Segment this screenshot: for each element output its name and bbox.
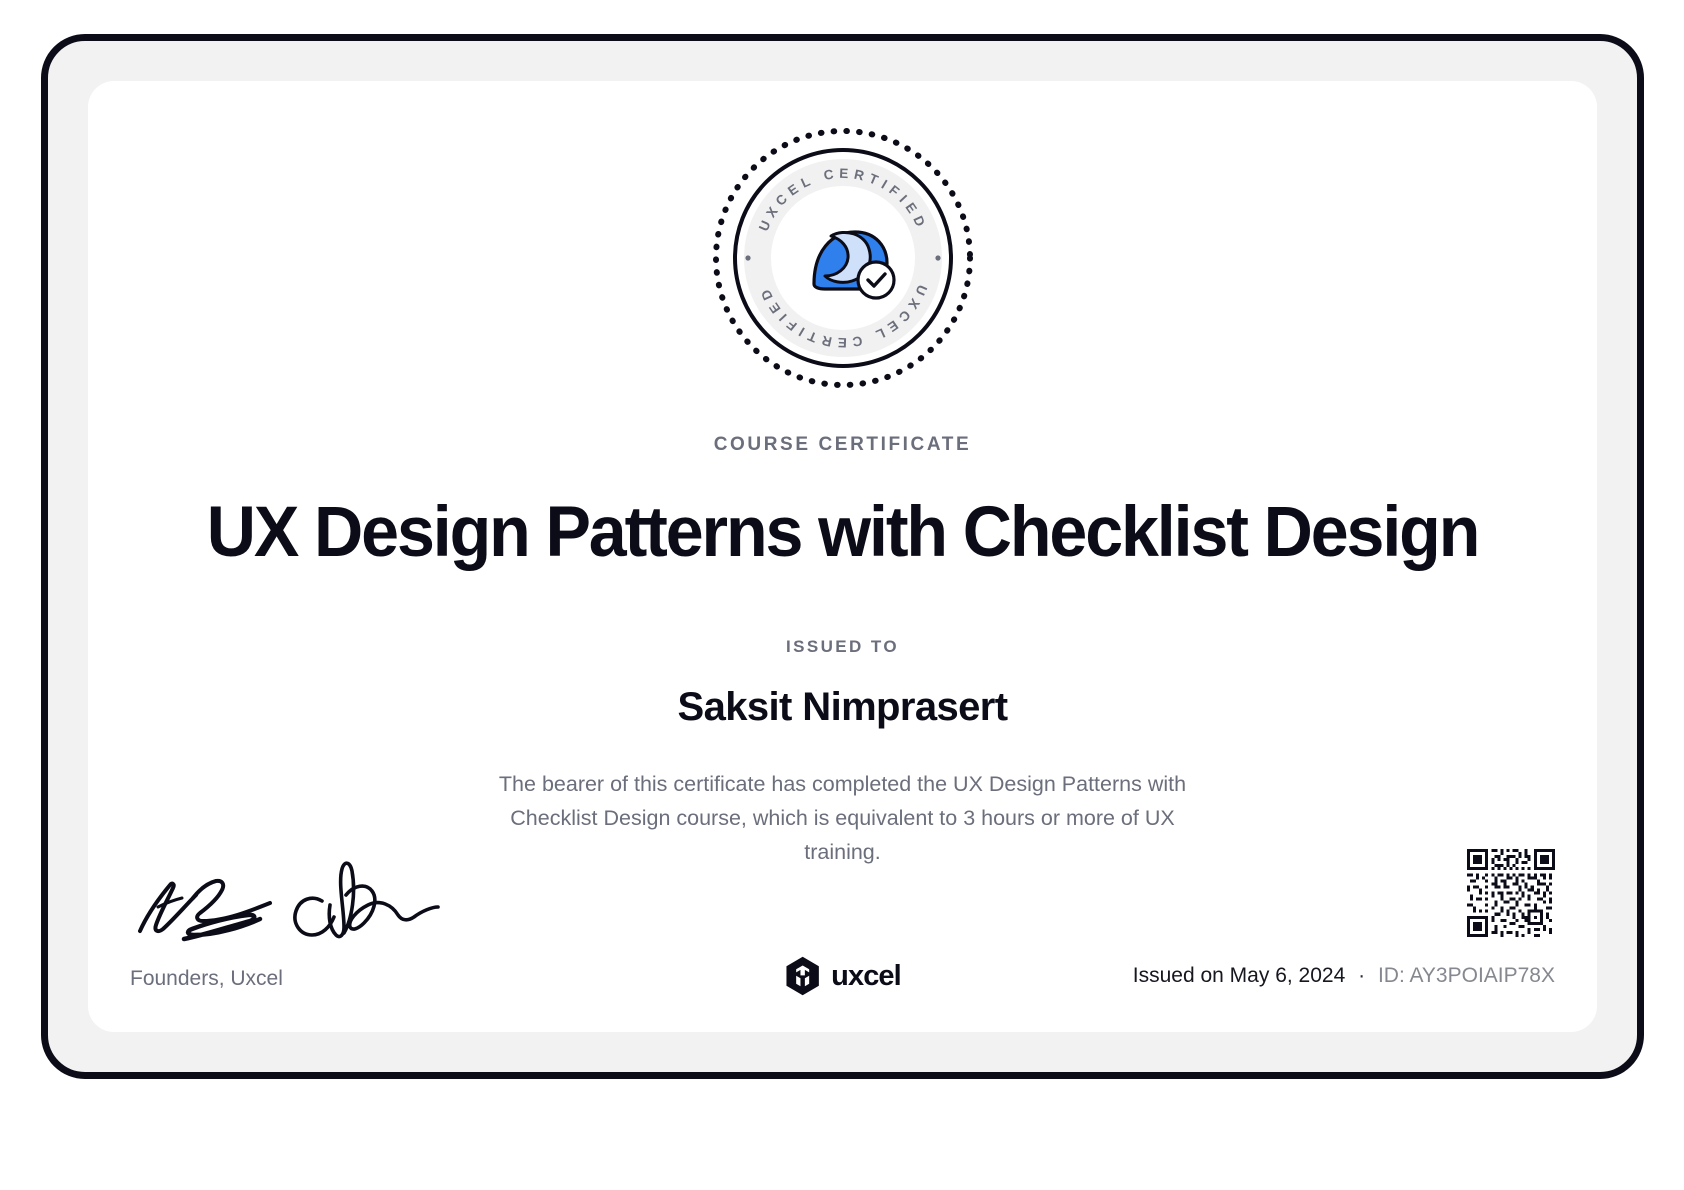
uxcel-hexagon-logo-icon	[784, 956, 820, 996]
issue-meta: Issued on May 6, 2024 · ID: AY3POIAIP78X	[1133, 964, 1555, 988]
certificate-kicker: COURSE CERTIFICATE	[88, 434, 1597, 456]
certificate-description: The bearer of this certificate has compl…	[478, 767, 1208, 869]
meta-separator: ·	[1351, 964, 1372, 987]
verification-qr-code[interactable]	[1467, 849, 1555, 937]
uxcel-brand-logo: uxcel	[784, 956, 901, 996]
issued-to-label: ISSUED TO	[88, 637, 1597, 657]
founders-caption: Founders, Uxcel	[130, 967, 283, 991]
signatures-block	[130, 851, 470, 951]
certificate-card: UXCEL CERTIFIED UXCEL CERTIFIED	[88, 81, 1597, 1032]
course-title: UX Design Patterns with Checklist Design	[137, 496, 1547, 571]
certificate-id: ID: AY3POIAIP78X	[1378, 964, 1555, 987]
recipient-name: Saksit Nimprasert	[88, 685, 1597, 730]
founder-signature-1-icon	[130, 851, 300, 946]
certificate-seal: UXCEL CERTIFIED UXCEL CERTIFIED	[88, 123, 1597, 393]
brand-wordmark: uxcel	[831, 960, 901, 993]
uxcel-certified-seal-icon: UXCEL CERTIFIED UXCEL CERTIFIED	[708, 123, 978, 393]
founder-signature-2-icon	[280, 851, 440, 946]
certificate-outer-frame: UXCEL CERTIFIED UXCEL CERTIFIED	[41, 34, 1644, 1079]
certificate-page: UXCEL CERTIFIED UXCEL CERTIFIED	[0, 0, 1684, 1190]
issue-date: Issued on May 6, 2024	[1133, 964, 1345, 987]
